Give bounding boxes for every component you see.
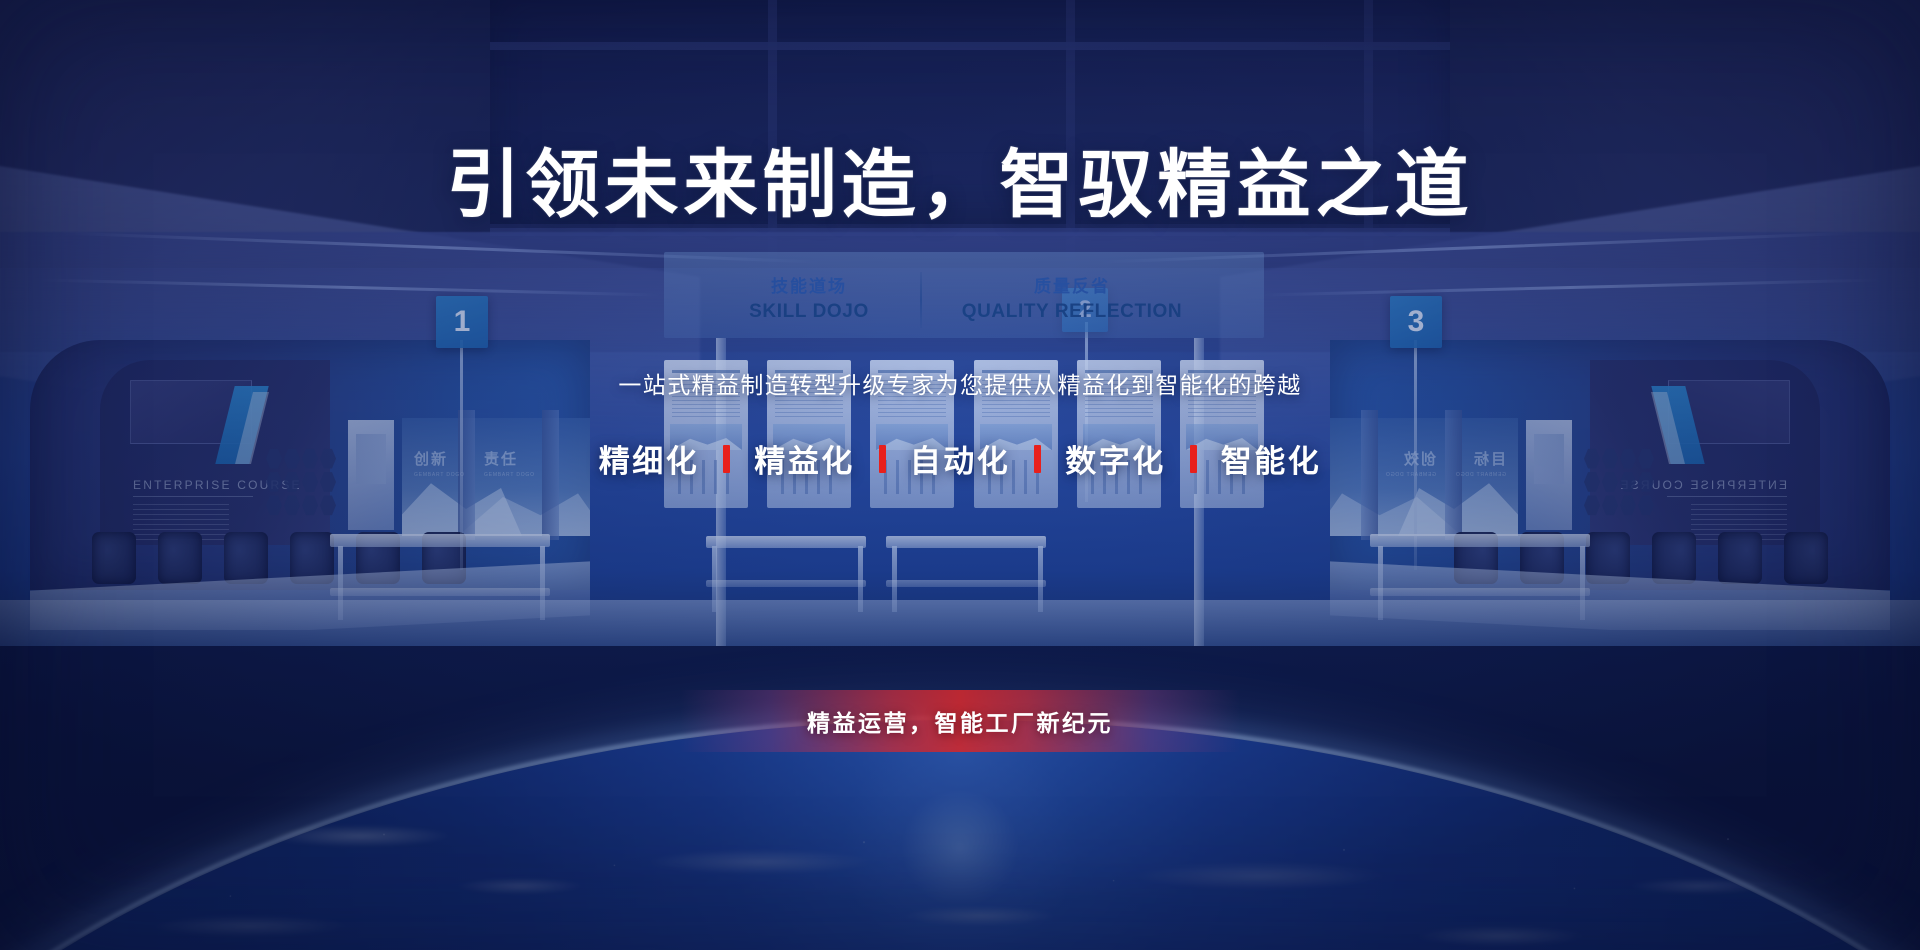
tagline-badge-text: 精益运营，智能工厂新纪元 (807, 704, 1113, 738)
keyword-item-2: 精益化 (730, 436, 879, 481)
signage-skill-dojo: 技能道场 SKILL DOJO (698, 268, 920, 323)
workbench-shelf (1370, 588, 1590, 596)
signage-cn-label: 质量反省 (922, 272, 1222, 297)
signage-header: 技能道场 SKILL DOJO 质量反省 QUALITY REFLECTION (620, 268, 1300, 330)
page-subtitle: 一站式精益制造转型升级专家为您提供从精益化到智能化的跨越 (0, 366, 1920, 400)
keyword-separator-icon (723, 445, 730, 473)
keyword-separator-icon (1034, 445, 1041, 473)
workbench-shelf (330, 588, 550, 596)
pillar-number-left: 1 (436, 296, 488, 348)
workbench-top-right (1370, 534, 1590, 547)
pillar-number-right: 3 (1390, 296, 1442, 348)
keyword-item-3: 自动化 (886, 436, 1035, 481)
booth-rule (1667, 496, 1787, 497)
signage-en-label: SKILL DOJO (698, 301, 920, 323)
workbench-shelf (706, 580, 866, 587)
workbench-top (706, 536, 866, 548)
keyword-item-1: 精细化 (575, 436, 724, 481)
keyword-separator-icon (879, 445, 886, 473)
signage-cn-label: 技能道场 (698, 272, 920, 297)
tagline-badge: 精益运营，智能工厂新纪元 (680, 690, 1240, 752)
signage-en-label: QUALITY REFLECTION (922, 301, 1222, 323)
booth-rule (133, 496, 253, 497)
signage-quality-reflection: 质量反省 QUALITY REFLECTION (922, 268, 1222, 323)
keyword-item-4: 数字化 (1041, 436, 1190, 481)
workbench-shelf (886, 580, 1046, 587)
workbench-top-left (330, 534, 550, 547)
earth-city-lights (0, 796, 1920, 950)
page-title: 引领未来制造，智驭精益之道 (0, 148, 1920, 222)
keyword-list: 精细化 精益化 自动化 数字化 智能化 (0, 436, 1920, 481)
keyword-item-5: 智能化 (1197, 436, 1346, 481)
workbench-top (886, 536, 1046, 548)
hero-banner: ENTERPRISE COURSE 创新 GEMBART DOGO 责任 GEM… (0, 0, 1920, 950)
keyword-separator-icon (1190, 445, 1197, 473)
